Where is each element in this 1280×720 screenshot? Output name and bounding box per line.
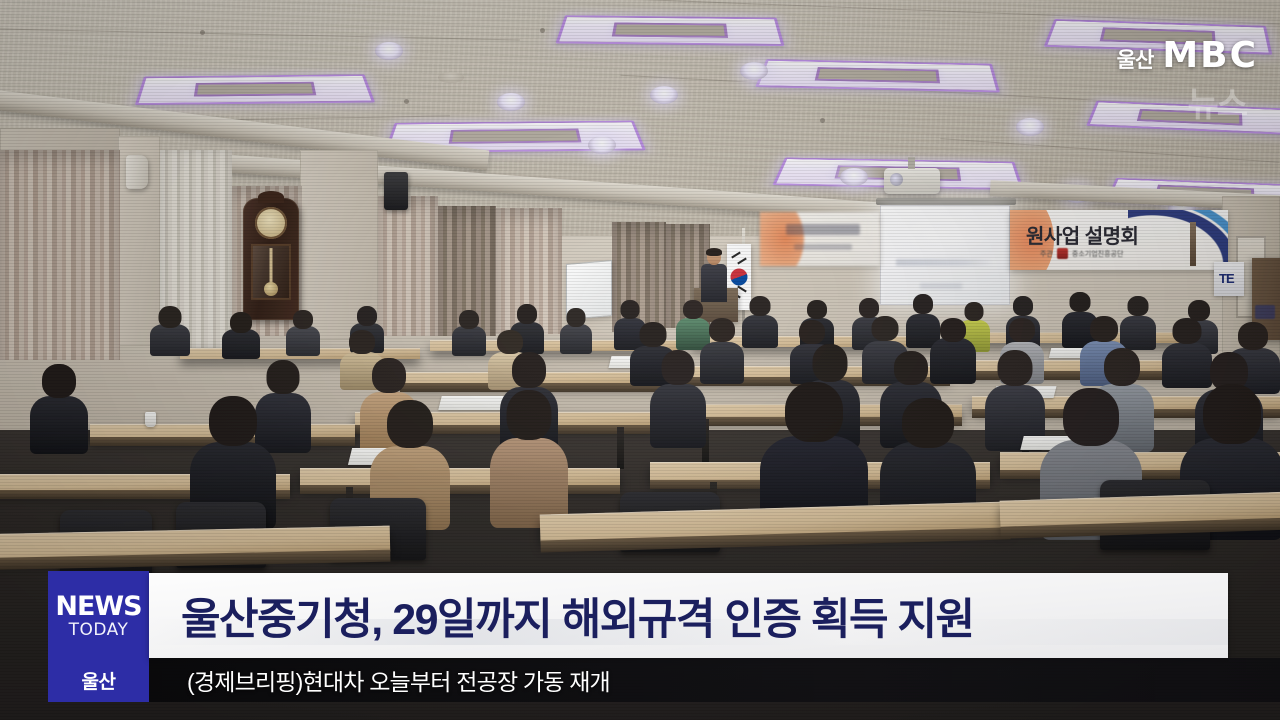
person-head xyxy=(497,330,523,354)
person-head xyxy=(894,351,928,385)
wall-clock xyxy=(243,198,299,320)
ceiling-light-panel xyxy=(555,15,784,46)
headline-text: 울산중기청, 29일까지 해외규격 인증 획득 지원 xyxy=(149,585,974,647)
clock-pendulum-bob xyxy=(264,282,278,296)
person-head xyxy=(459,310,479,329)
person-head xyxy=(859,298,879,318)
banner-text-blur xyxy=(794,244,852,250)
audience-member xyxy=(222,312,260,358)
wall-speaker xyxy=(126,155,148,189)
curtain-mid xyxy=(378,196,438,336)
person-head xyxy=(209,396,257,446)
person-head xyxy=(872,316,899,341)
organization-mark-icon xyxy=(1057,248,1068,259)
downlight xyxy=(650,86,678,104)
person-body xyxy=(286,326,320,356)
person-head xyxy=(998,350,1033,386)
lectern-sign: TE xyxy=(1214,262,1244,296)
screen-glare xyxy=(898,215,990,255)
audience-member xyxy=(560,308,592,352)
channel-network-label: MBC xyxy=(1162,38,1258,74)
person-head xyxy=(662,350,695,385)
audience-member xyxy=(490,390,568,524)
person-body xyxy=(222,329,260,359)
region-badge: 울산 xyxy=(48,658,149,702)
projection-screen xyxy=(880,205,1010,305)
downlight xyxy=(375,42,403,60)
audience-member xyxy=(286,310,320,354)
person-body xyxy=(452,326,486,356)
person-head xyxy=(159,306,182,328)
screen-slide-text xyxy=(920,283,962,289)
person-body xyxy=(742,315,778,348)
person-head xyxy=(640,322,667,347)
person-head xyxy=(785,382,843,442)
headline-bar: 울산중기청, 29일까지 해외규격 인증 획득 지원 xyxy=(149,573,1228,658)
ceiling-fixture-dot xyxy=(404,99,409,104)
paper-cup xyxy=(145,412,156,427)
curtain-left xyxy=(0,150,120,360)
channel-logo: 울산 MBC xyxy=(1117,38,1258,74)
person-body xyxy=(650,384,706,448)
ceiling-fixture-dot xyxy=(200,30,205,35)
person-head xyxy=(1238,322,1268,350)
person-head xyxy=(267,360,300,394)
person-head xyxy=(807,300,827,319)
ceiling-fixture-dot xyxy=(540,28,545,33)
flag-trigram xyxy=(737,258,747,265)
banner-text-blur xyxy=(786,224,860,235)
person-head xyxy=(230,312,252,333)
person-head xyxy=(293,310,313,329)
downlight xyxy=(740,62,768,80)
ticker-text: (경제브리핑)현대차 오늘부터 전공장 가동 재개 xyxy=(149,663,610,697)
channel-watermark: 뉴스 xyxy=(1187,88,1246,122)
person-body xyxy=(30,396,88,454)
person-head xyxy=(512,352,546,388)
person-head xyxy=(1090,316,1118,342)
person-head xyxy=(567,308,586,327)
smoke-detector xyxy=(438,72,464,83)
person-body xyxy=(560,324,592,354)
person-head xyxy=(1063,388,1119,446)
person-head xyxy=(357,306,377,326)
program-logo-block: NEWS TODAY 울산 xyxy=(48,571,149,702)
presenter xyxy=(700,250,728,302)
ceiling-light-panel xyxy=(135,74,375,105)
audience-member xyxy=(985,350,1045,448)
ceiling-projector xyxy=(884,168,940,194)
program-logo: NEWS TODAY xyxy=(48,571,149,658)
person-head xyxy=(372,358,406,393)
flag-trigram xyxy=(731,252,741,259)
person-body xyxy=(150,324,190,356)
program-title-line2: TODAY xyxy=(69,620,129,641)
ceiling-fixture-dot xyxy=(820,118,825,123)
channel-region-label: 울산 xyxy=(1117,50,1154,74)
person-head xyxy=(349,330,375,354)
person-head xyxy=(1203,384,1261,444)
person-body xyxy=(700,342,744,384)
person-head xyxy=(387,400,433,448)
person-head xyxy=(1070,292,1091,312)
person-head xyxy=(940,318,966,342)
banner-graphic-swoosh xyxy=(1128,210,1228,270)
person-head xyxy=(621,300,640,319)
downlight xyxy=(840,168,868,186)
screen-slide-text xyxy=(896,259,994,266)
audience-member xyxy=(742,296,778,346)
broadcast-screenshot: 원사업 설명회 주관 중소기업진흥공단 TE xyxy=(0,0,1280,720)
person-head xyxy=(799,320,825,344)
person-head xyxy=(750,296,771,316)
person-head xyxy=(902,398,954,448)
clock-crown xyxy=(258,191,284,203)
person-head xyxy=(1173,318,1202,344)
ceiling-light-panel xyxy=(755,59,1000,92)
flag-trigram xyxy=(737,286,747,293)
table-leg xyxy=(617,427,624,469)
person-head xyxy=(913,294,933,314)
lectern-emblem xyxy=(1255,305,1275,319)
audience-member xyxy=(700,318,744,382)
lectern-post xyxy=(1190,222,1196,266)
audience-member xyxy=(650,350,706,446)
clock-pendulum-rod xyxy=(270,248,273,286)
ticker-bar: (경제브리핑)현대차 오늘부터 전공장 가동 재개 xyxy=(149,658,1280,702)
conference-table xyxy=(300,468,620,487)
stage-banner-left xyxy=(760,212,880,266)
audience-member xyxy=(150,306,190,354)
audience-member xyxy=(30,364,88,450)
downlight xyxy=(588,136,616,154)
clock-face xyxy=(255,207,287,239)
program-title-line1: NEWS xyxy=(55,593,141,621)
person-head xyxy=(709,318,735,342)
clock-pendulum-case xyxy=(251,244,291,300)
person-head xyxy=(1128,296,1149,316)
person-head xyxy=(517,304,537,324)
banner-subtitle: 주관 중소기업진흥공단 xyxy=(1040,248,1123,259)
presenter-body xyxy=(701,264,727,302)
presenter-hair xyxy=(706,248,722,256)
flag-taeguk xyxy=(731,269,748,286)
screen-mount-rail xyxy=(876,198,1016,205)
downlight xyxy=(497,93,525,111)
person-head xyxy=(42,364,76,398)
audience-member xyxy=(452,310,486,354)
person-head xyxy=(813,344,848,382)
downlight xyxy=(1016,118,1044,136)
person-head xyxy=(1104,348,1140,386)
banner-org-label: 중소기업진흥공단 xyxy=(1072,249,1124,259)
banner-title: 원사업 설명회 xyxy=(1026,220,1138,249)
banner-graphic xyxy=(760,212,804,266)
banner-host-label: 주관 xyxy=(1040,249,1053,259)
person-head xyxy=(1009,318,1035,342)
person-head xyxy=(507,390,552,440)
person-head xyxy=(683,300,703,319)
stage-speaker xyxy=(384,172,408,210)
person-head xyxy=(1013,296,1033,316)
lectern-sign-text: TE xyxy=(1219,271,1234,286)
